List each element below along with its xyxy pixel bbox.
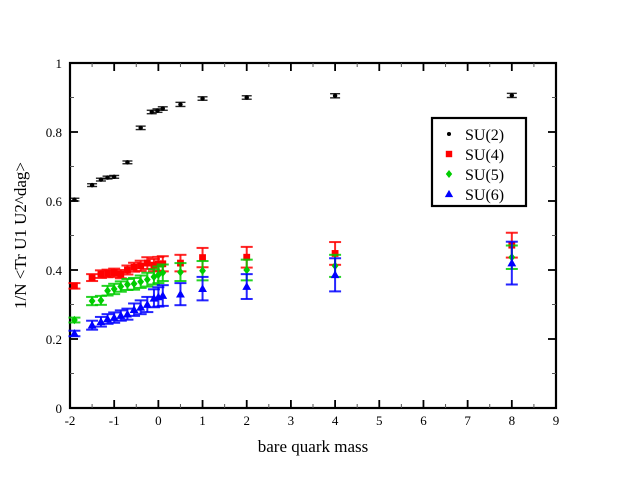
y-axis-tick-label: 0.4 xyxy=(46,263,63,278)
data-point-marker xyxy=(131,264,138,271)
data-point-marker xyxy=(99,177,103,181)
y-axis-tick-label: 1 xyxy=(56,56,63,71)
data-point-marker xyxy=(178,102,182,106)
data-point-marker xyxy=(510,93,514,97)
data-point-marker xyxy=(446,151,452,157)
data-point-marker xyxy=(161,106,165,110)
scatter-plot-figure: -2-1012345678900.20.40.60.81bare quark m… xyxy=(0,0,623,481)
data-point-marker xyxy=(90,183,94,187)
data-point-marker xyxy=(245,95,249,99)
legend-item-label: SU(6) xyxy=(465,187,504,204)
y-axis-tick-label: 0.8 xyxy=(46,125,62,140)
y-axis-tick-label: 0.6 xyxy=(46,194,63,209)
x-axis-tick-label: 7 xyxy=(464,413,471,428)
x-axis-tick-label: 9 xyxy=(553,413,560,428)
x-axis-tick-label: 3 xyxy=(288,413,295,428)
x-axis-tick-label: -1 xyxy=(109,413,120,428)
legend-item-label: SU(4) xyxy=(465,147,504,164)
legend: SU(2)SU(4)SU(5)SU(6) xyxy=(432,118,526,206)
data-point-marker xyxy=(447,132,451,136)
x-axis-tick-label: 6 xyxy=(420,413,427,428)
data-point-marker xyxy=(125,160,129,164)
data-point-marker xyxy=(199,254,206,261)
data-point-marker xyxy=(333,94,337,98)
x-axis-tick-label: 1 xyxy=(199,413,206,428)
legend-item-label: SU(2) xyxy=(465,127,504,144)
data-point-marker xyxy=(104,270,111,277)
data-point-marker xyxy=(72,197,76,201)
y-axis-label: 1/N <Tr U1 U2^dag> xyxy=(11,162,30,309)
x-axis-tick-label: 8 xyxy=(509,413,516,428)
y-axis-tick-label: 0.2 xyxy=(46,332,62,347)
data-point-marker xyxy=(89,274,96,281)
data-point-marker xyxy=(200,96,204,100)
data-point-marker xyxy=(138,126,142,130)
x-axis-tick-label: 2 xyxy=(243,413,250,428)
y-axis-tick-label: 0 xyxy=(56,401,63,416)
data-point-marker xyxy=(71,282,78,289)
data-point-marker xyxy=(105,175,109,179)
x-axis-label: bare quark mass xyxy=(258,437,368,456)
data-point-marker xyxy=(144,260,151,267)
x-axis-tick-label: -2 xyxy=(65,413,76,428)
x-axis-tick-label: 0 xyxy=(155,413,162,428)
legend-item-label: SU(5) xyxy=(465,167,504,184)
data-point-marker xyxy=(112,175,116,179)
x-axis-tick-label: 4 xyxy=(332,413,339,428)
x-axis-tick-label: 5 xyxy=(376,413,383,428)
